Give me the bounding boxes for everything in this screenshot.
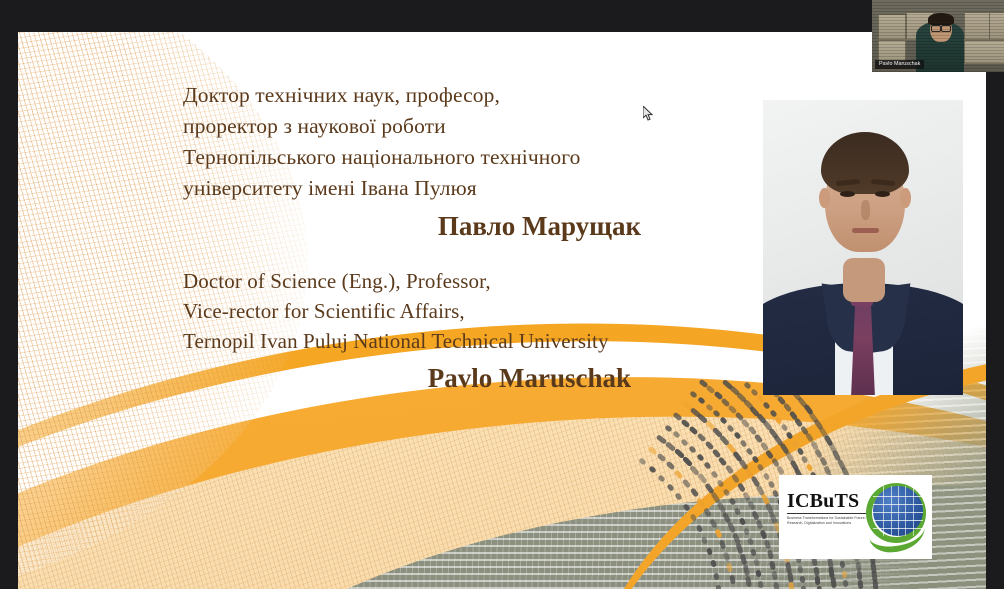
dash-mark [705,420,716,431]
dash-mark [717,479,725,488]
dash-mark [703,507,712,517]
dash-mark [756,412,767,424]
dash-mark [806,463,814,472]
dash-mark [755,485,765,497]
dash-mark [823,465,831,475]
portrait-eye-right [875,191,890,197]
dash-mark [722,379,734,390]
dash-mark [789,410,798,420]
dash-mark [800,575,806,583]
presentation-slide: Доктор технічних наук, професор, прорект… [18,32,986,589]
dash-mark [827,557,834,569]
dash-mark [728,498,736,507]
dash-mark [713,391,723,401]
dash-mark [719,435,730,447]
dash-mark [777,396,787,406]
dash-mark [704,482,714,494]
dash-mark [762,420,773,432]
dash-mark [738,517,745,525]
dash-mark [689,407,701,418]
dash-mark [769,512,778,524]
dash-mark [747,500,756,510]
dash-mark [801,585,807,589]
dash-mark [742,565,749,577]
dash-mark [725,464,734,474]
dash-mark [832,450,842,462]
dash-mark [729,385,740,396]
ukrainian-block: Доктор технічних наук, професор, прорект… [183,80,703,248]
portrait-mouth [852,228,879,233]
dash-mark [726,442,737,454]
dash-mark [710,560,717,568]
dash-mark [756,520,764,530]
dash-mark [726,563,733,573]
portrait-ear-right [900,188,911,208]
dash-mark [720,397,730,407]
dash-mark [666,483,674,492]
dash-mark [713,572,719,580]
dash-mark [665,461,675,471]
portrait-eye-left [840,191,855,197]
dash-mark [722,511,731,523]
dash-mark [658,474,666,482]
dash-mark [744,467,754,479]
dash-mark [648,465,657,473]
dash-mark [703,461,711,470]
dash-mark [737,482,746,492]
dash-mark [770,457,779,467]
dash-mark [843,580,849,588]
dash-mark [783,403,793,413]
dash-mark [836,458,845,470]
dash-mark [689,513,697,522]
dash-mark [803,404,814,416]
dash-mark [758,580,764,588]
dash-mark [739,554,747,566]
dash-mark [709,518,718,528]
dash-mark [751,455,759,464]
left-mesh-secondary [18,32,178,572]
dash-mark [841,570,847,578]
ua-speaker-name: Павло Марущак [183,204,703,248]
dash-mark [800,425,809,435]
dash-mark [766,550,773,560]
dash-mark [716,501,726,513]
dash-mark [805,433,814,443]
dash-mark [791,439,799,448]
dash-mark [728,404,738,414]
dash-mark [771,571,778,581]
arrow-cursor-icon [643,106,654,121]
dash-mark [872,571,878,583]
dash-mark [647,445,657,454]
dash-mark [818,426,828,438]
dash-mark [750,388,758,396]
dash-mark [763,540,770,550]
en-line-1: Doctor of Science (Eng.), Professor, [183,266,703,296]
logo-divider [787,513,867,514]
dash-mark [813,566,819,576]
dash-mark [731,473,740,483]
dash-mark [816,586,822,589]
dash-mark [672,412,682,421]
dash-mark [726,424,734,433]
dash-mark [814,449,823,459]
dash-mark [787,572,794,584]
dash-mark [756,569,762,577]
dash-mark [753,559,760,567]
dash-mark [681,400,693,411]
dash-mark [794,417,803,427]
dash-mark [767,481,775,490]
dash-mark [719,417,727,425]
dash-mark [813,419,823,431]
dash-mark [789,459,799,471]
dash-mark [675,493,683,502]
globe-icon [865,482,927,544]
dash-mark [739,439,747,448]
dash-mark [706,548,713,556]
dash-mark [762,472,770,481]
dash-mark [689,425,699,435]
dash-mark [682,478,692,488]
en-speaker-name: Pavlo Maruschak [183,356,703,400]
dash-mark [768,427,779,439]
dash-mark [736,543,744,555]
dash-mark [810,441,819,451]
dash-mark [711,448,721,458]
dash-mark [759,441,768,451]
dash-mark [801,455,809,464]
dash-mark [830,576,836,588]
dash-mark [710,492,720,504]
globe-green-swoosh [868,510,927,554]
dash-mark [828,567,835,579]
dash-mark [689,445,697,453]
dash-mark [705,403,714,411]
dash-mark [797,397,808,409]
dash-mark [798,565,804,573]
dash-mark [712,410,721,418]
dash-mark [689,464,700,476]
dash-mark [757,463,765,472]
dash-mark [734,411,744,421]
dash-mark [656,453,666,463]
dash-mark [870,562,877,574]
dash-mark [765,449,774,459]
webcam-pip-window[interactable]: Pavlo Maruschak [872,0,1004,72]
dash-mark [823,434,833,446]
slide-text-block: Доктор технічних наук, професор, прорект… [183,80,703,400]
dash-mark [819,457,828,467]
dash-mark [665,441,677,452]
dash-mark [723,551,730,561]
dash-mark [747,426,757,436]
dash-mark [732,532,741,544]
dash-mark [760,494,769,506]
dash-mark [689,487,698,497]
dash-mark [785,562,792,574]
dash-mark [681,419,691,429]
dash-mark [697,433,707,443]
dash-mark [697,473,708,485]
dash-mark [754,433,763,443]
dash-mark [732,450,743,462]
dash-mark [769,409,777,418]
logo-text-group: ICBuTS Business Transformations for Sust… [787,491,872,526]
dash-mark [855,561,861,571]
logo-tagline: Business Transformations for Sustainable… [787,516,867,526]
dash-mark [873,580,879,589]
dash-mark [656,434,668,445]
dash-mark [712,427,723,438]
dash-mark [743,398,754,409]
dash-mark [750,548,757,556]
icbuts-logo: ICBuTS Business Transformations for Sust… [779,475,932,559]
dash-mark [734,507,742,516]
ua-line-4: університету імені Івана Пулюя [183,173,703,204]
ua-line-3: Тернопільського національного технічного [183,142,703,173]
dash-mark [745,447,753,456]
dash-mark [743,527,750,535]
dash-mark [729,574,736,584]
dash-mark [673,448,684,459]
dash-mark [743,381,752,389]
ua-line-1: Доктор технічних наук, професор, [183,80,703,111]
dash-mark [815,576,821,586]
dash-mark [719,540,727,550]
dash-mark [682,456,693,467]
dash-mark [727,521,736,533]
dash-mark [696,497,705,507]
dash-mark [664,424,673,432]
dash-mark [840,561,846,569]
screen-capture-frame: Доктор технічних наук, професор, прорект… [0,0,1004,589]
speaker-portrait-photo [763,100,963,395]
en-line-2: Vice-rector for Scientific Affairs, [183,296,703,326]
dash-mark [714,529,722,539]
dash-mark [696,453,704,462]
dash-mark [695,524,703,533]
dash-mark [788,582,794,589]
dash-mark [796,447,804,456]
dash-mark [780,424,788,433]
dash-mark [710,470,718,479]
dash-mark [682,503,690,512]
dash-mark [747,537,754,545]
dash-mark [808,411,818,423]
dash-mark [763,402,771,411]
dash-mark [756,395,764,404]
dash-mark [828,442,838,454]
dash-mark [718,456,728,466]
dash-mark [858,580,864,589]
dash-mark [706,385,716,395]
portrait-neck [843,258,885,302]
logo-acronym: ICBuTS [787,491,872,511]
dash-mark [697,413,709,424]
dash-mark [773,581,779,589]
dash-mark [704,440,714,450]
pip-participant-name: Pavlo Maruschak [875,60,924,69]
dash-mark [775,416,783,425]
dash-mark [672,431,681,439]
dash-mark [681,438,690,446]
dash-mark [769,560,776,570]
dash-mark [733,431,741,440]
dash-mark [741,418,751,428]
dash-mark [784,451,794,463]
dash-mark [638,457,647,465]
dash-mark [749,405,760,417]
dash-mark [739,459,749,471]
dash-mark [760,530,768,540]
dash-mark [765,503,774,515]
dash-mark [856,571,862,581]
dash-mark [723,488,731,497]
dash-mark [674,469,684,479]
dash-mark [742,491,751,501]
dash-mark [752,510,760,520]
portrait-ear-left [819,188,830,208]
portrait-nose [861,200,870,220]
dash-mark [716,585,722,589]
dash-mark [745,576,752,588]
ua-line-2: проректор з наукової роботи [183,111,703,142]
english-block: Doctor of Science (Eng.), Professor, Vic… [183,266,703,400]
dash-mark [736,392,747,403]
en-line-3: Ternopil Ivan Puluj National Technical U… [183,326,703,356]
dash-mark [750,476,760,488]
dash-mark [779,443,789,455]
dash-mark [786,431,794,440]
dash-mark [773,435,783,447]
dash-mark [701,536,708,544]
